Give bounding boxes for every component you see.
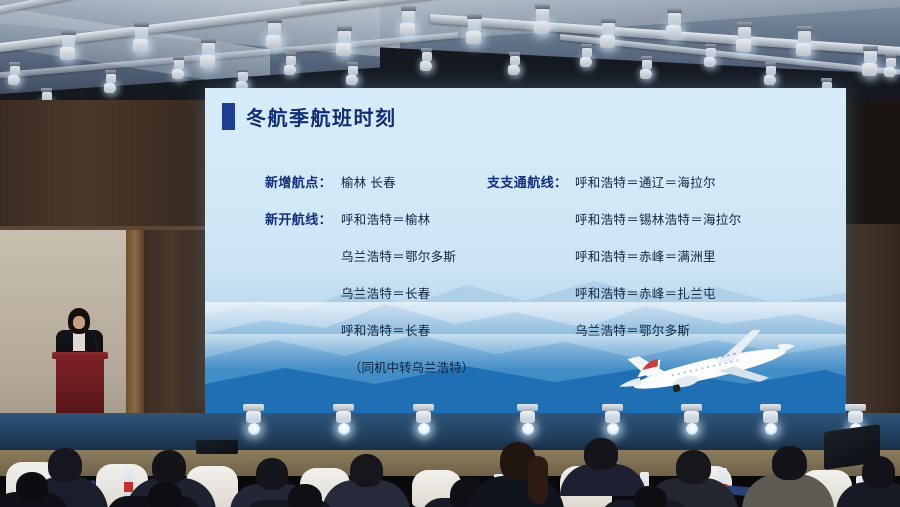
ceiling-spotlight (884, 54, 897, 77)
ceiling-spotlight (640, 56, 653, 79)
ceiling-spotlight (172, 56, 185, 79)
ceiling-spotlight (534, 4, 551, 34)
route-row: 呼和浩特＝赤峰＝满洲里 (487, 246, 741, 265)
ceiling-spotlight (200, 38, 217, 68)
route-row: 新开航线： 呼和浩特＝榆林 (265, 209, 474, 228)
regional-route-value: 呼和浩特＝通辽＝海拉尔 (575, 172, 716, 191)
ceiling-spotlight (466, 14, 483, 44)
regional-routes-label: 支支通航线： (487, 172, 575, 191)
ceiling-spotlight (420, 48, 433, 71)
new-destinations-value: 榆林 长春 (341, 172, 396, 191)
new-route-value: 乌兰浩特＝长春 (341, 283, 431, 302)
ceiling-spotlight (60, 30, 77, 60)
route-row: 支支通航线： 呼和浩特＝通辽＝海拉尔 (487, 172, 741, 191)
new-routes-label: 新开航线： (265, 209, 341, 228)
ceiling-spotlight (104, 70, 117, 93)
ceiling-spotlight (862, 46, 879, 76)
new-route-value: 呼和浩特＝榆林 (341, 209, 431, 228)
route-row: 新增航点： 榆林 长春 (265, 172, 474, 191)
route-note-row: （同机中转乌兰浩特） (265, 357, 474, 376)
ceiling-spotlight (796, 26, 813, 56)
right-column: 支支通航线： 呼和浩特＝通辽＝海拉尔 呼和浩特＝锡林浩特＝海拉尔 呼和浩特＝赤峰… (487, 172, 741, 339)
route-row: 乌兰浩特＝长春 (265, 283, 474, 302)
ceiling-spotlight (600, 18, 617, 48)
route-row: 呼和浩特＝长春 (265, 320, 474, 339)
airplane-graphic (609, 330, 799, 404)
ceiling-spotlight (133, 22, 150, 52)
ceiling-spotlight (736, 22, 753, 52)
route-row: 呼和浩特＝锡林浩特＝海拉尔 (487, 209, 741, 228)
new-destinations-label: 新增航点： (265, 172, 341, 191)
ceiling-spotlight (8, 62, 21, 85)
new-route-value: 乌兰浩特＝鄂尔多斯 (341, 246, 456, 265)
ceiling-spotlight (764, 62, 777, 85)
slide-title-group: 冬航季航班时刻 (222, 102, 397, 131)
regional-route-value: 呼和浩特＝锡林浩特＝海拉尔 (575, 209, 741, 228)
conference-room-photo: 冬航季航班时刻 新增航点： 榆林 长春 新开航线： 呼和浩特＝榆林 乌兰浩特＝鄂… (0, 0, 900, 507)
slide-title: 冬航季航班时刻 (246, 102, 397, 131)
ceiling-spotlight (508, 52, 521, 75)
ceiling-spotlight (666, 8, 683, 38)
new-route-value: 呼和浩特＝长春 (341, 320, 431, 339)
regional-route-value: 呼和浩特＝赤峰＝满洲里 (575, 246, 716, 265)
projection-screen: 冬航季航班时刻 新增航点： 榆林 长春 新开航线： 呼和浩特＝榆林 乌兰浩特＝鄂… (205, 88, 846, 415)
title-accent-bar (222, 103, 235, 130)
ceiling-spotlight (266, 18, 283, 48)
audience (0, 420, 900, 507)
ceiling-spotlight (336, 26, 353, 56)
transfer-note: （同机中转乌兰浩特） (265, 357, 474, 376)
regional-route-value: 呼和浩特＝赤峰＝扎兰屯 (575, 283, 716, 302)
left-column: 新增航点： 榆林 长春 新开航线： 呼和浩特＝榆林 乌兰浩特＝鄂尔多斯 乌兰浩特… (265, 172, 474, 376)
ceiling-spotlight (346, 62, 359, 85)
ceiling-spotlight (704, 44, 717, 67)
presenter-face (73, 316, 85, 329)
ceiling-spotlight (580, 44, 593, 67)
presenter-shirt (73, 331, 85, 351)
route-row: 呼和浩特＝赤峰＝扎兰屯 (487, 283, 741, 302)
ceiling-spotlight (284, 52, 297, 75)
ceiling-spotlight (400, 6, 417, 36)
route-row: 乌兰浩特＝鄂尔多斯 (265, 246, 474, 265)
